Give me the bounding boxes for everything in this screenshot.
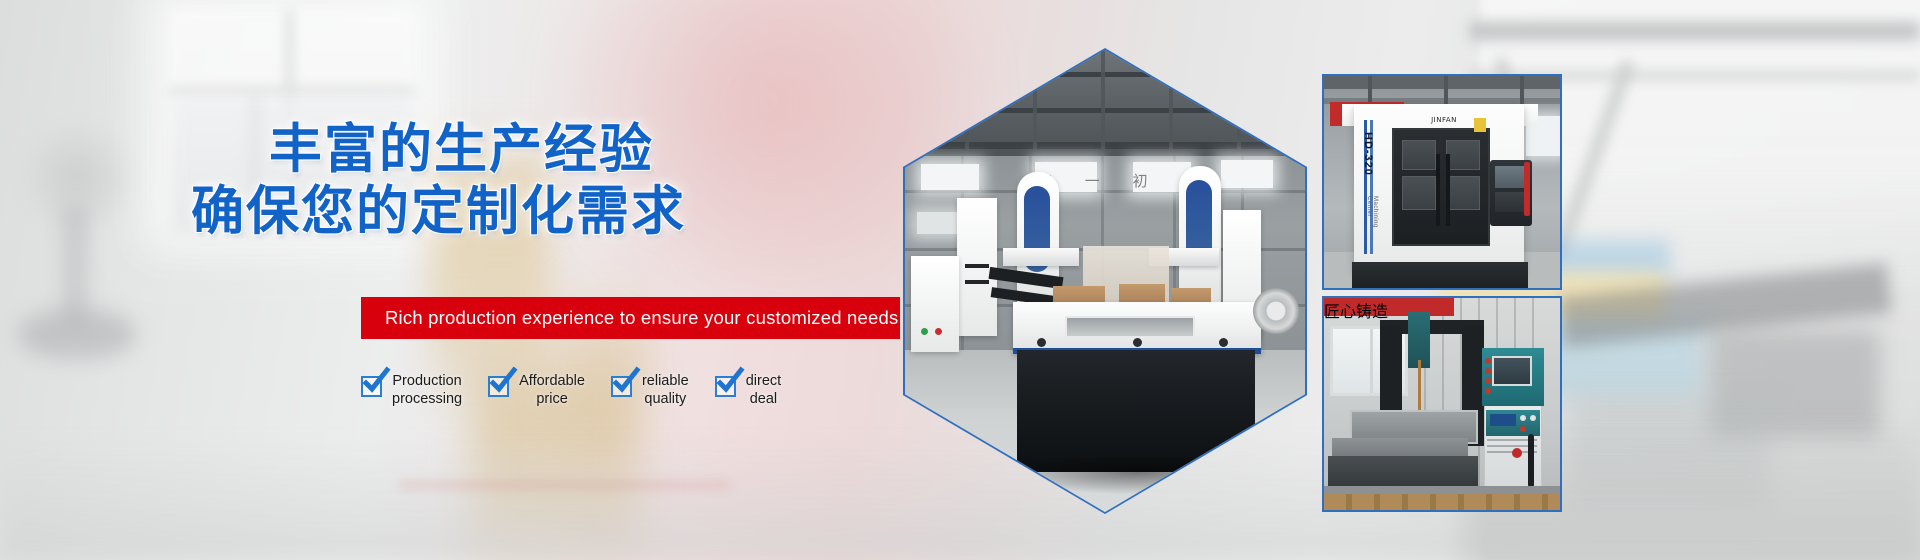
feature-item-reliable-quality[interactable]: reliablequality [611, 370, 689, 408]
background-floor-marking [400, 482, 730, 488]
photo-top-red-accent [1524, 162, 1530, 216]
hex-arm-3 [1003, 248, 1079, 266]
hex-machine-base [1017, 350, 1255, 472]
background-fan-base [18, 310, 136, 358]
photo-top-machine-plinth [1352, 262, 1528, 290]
checkbox-checked-icon[interactable] [361, 376, 382, 397]
hex-roof [905, 50, 1305, 162]
photo-bottom-pallet [1324, 494, 1560, 512]
banner-headline: 丰富的生产经验 确保您的定制化需求 [0, 118, 856, 242]
photo-bottom-cable [1528, 434, 1534, 488]
photo-bottom-control-panel [1486, 410, 1540, 436]
photo-machining-center[interactable]: 奋力 HD-320 Machining Center JINFAN [1322, 74, 1562, 290]
photo-bottom-cabinet-head [1482, 348, 1544, 406]
checkbox-checked-icon[interactable] [715, 376, 736, 397]
photo-edm-machine[interactable]: 匠心铸造 [1322, 296, 1562, 512]
promo-banner: 丰富的生产经验 确保您的定制化需求 Rich production experi… [0, 0, 1920, 560]
hex-machine-shadow [997, 458, 1277, 494]
feature-label: reliablequality [642, 370, 689, 408]
hex-machine-table [1013, 302, 1261, 354]
subtitle-bar: Rich production experience to ensure you… [361, 297, 900, 339]
feature-item-direct-deal[interactable]: directdeal [715, 370, 781, 408]
photo-top-caution-label [1474, 118, 1486, 132]
feature-list: Productionprocessing Affordableprice rel… [361, 370, 901, 426]
hex-reel [1253, 288, 1299, 334]
photo-top-machine-brand: JINFAN [1422, 116, 1466, 125]
subtitle-text: Rich production experience to ensure you… [361, 307, 898, 329]
hexagon-photo[interactable]: 定 一 初 [903, 48, 1307, 514]
photo-top-machine-subtitle: Machining Center [1366, 196, 1378, 244]
checkbox-checked-icon[interactable] [488, 376, 509, 397]
photo-top-rafter [1444, 76, 1448, 106]
hexagon-photo-image: 定 一 初 [905, 50, 1305, 512]
background-roof-beam [1470, 22, 1920, 40]
photo-top-roof-beam [1324, 76, 1560, 89]
photo-bottom-crt-screen [1492, 356, 1532, 386]
checkbox-checked-icon[interactable] [611, 376, 632, 397]
photo-bottom-wall-banner: 匠心铸造 [1324, 298, 1454, 316]
feature-item-affordable-price[interactable]: Affordableprice [488, 370, 585, 408]
headline-line-2: 确保您的定制化需求 [0, 180, 856, 242]
feature-label: Productionprocessing [392, 370, 462, 408]
photo-bottom-emergency-stop [1512, 448, 1522, 458]
headline-line-1: 丰富的生产经验 [0, 118, 856, 180]
feature-label: directdeal [746, 370, 781, 408]
photo-top-rafter [1520, 76, 1524, 106]
hex-left-unit [911, 256, 959, 352]
feature-label: Affordableprice [519, 370, 585, 408]
photo-top-machine-model: HD-320 [1358, 132, 1374, 192]
photo-top-machine-door [1392, 128, 1490, 246]
feature-item-production-processing[interactable]: Productionprocessing [361, 370, 462, 408]
hex-column-right [1179, 166, 1221, 308]
